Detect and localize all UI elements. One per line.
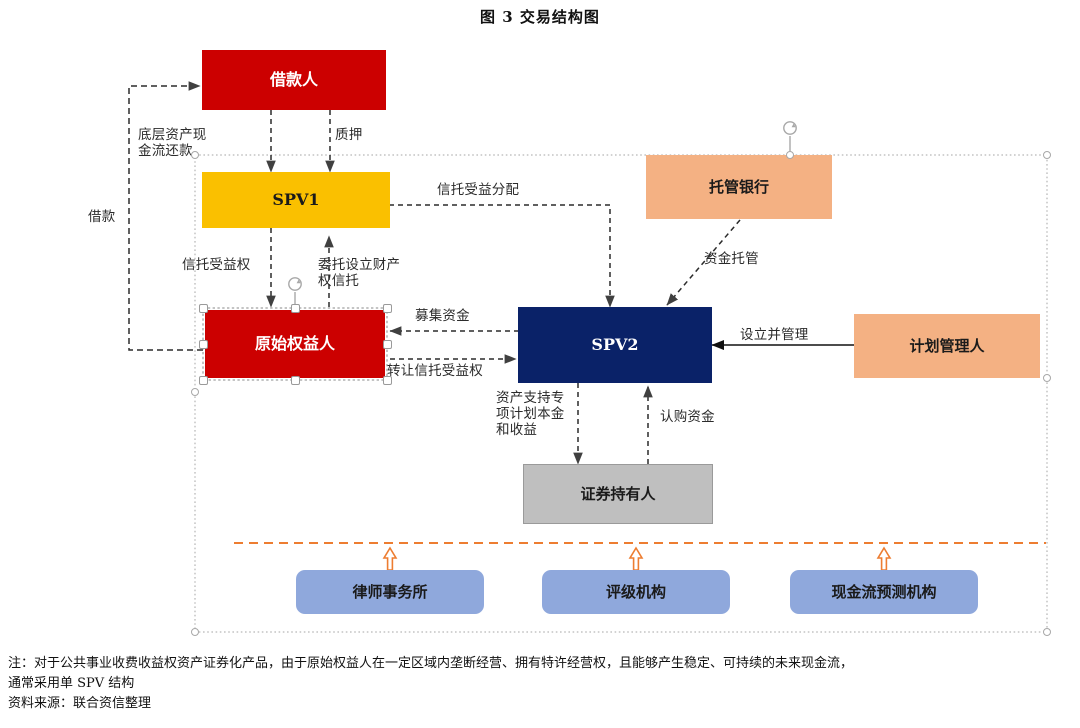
group-rotation-layer	[0, 0, 1080, 728]
footer-notes: 注：对于公共事业收费收益权资产证券化产品，由于原始权益人在一定区域内垄断经营、拥…	[8, 654, 1072, 714]
diagram-canvas: 图 3 交易结构图	[0, 0, 1080, 728]
footer-note-line2: 通常采用单 SPV 结构	[8, 674, 1072, 694]
footer-note-line1: 注：对于公共事业收费收益权资产证券化产品，由于原始权益人在一定区域内垄断经营、拥…	[8, 654, 1072, 674]
footer-source: 资料来源：联合资信整理	[8, 694, 1072, 714]
group-rotation-handle-icon	[784, 122, 796, 151]
